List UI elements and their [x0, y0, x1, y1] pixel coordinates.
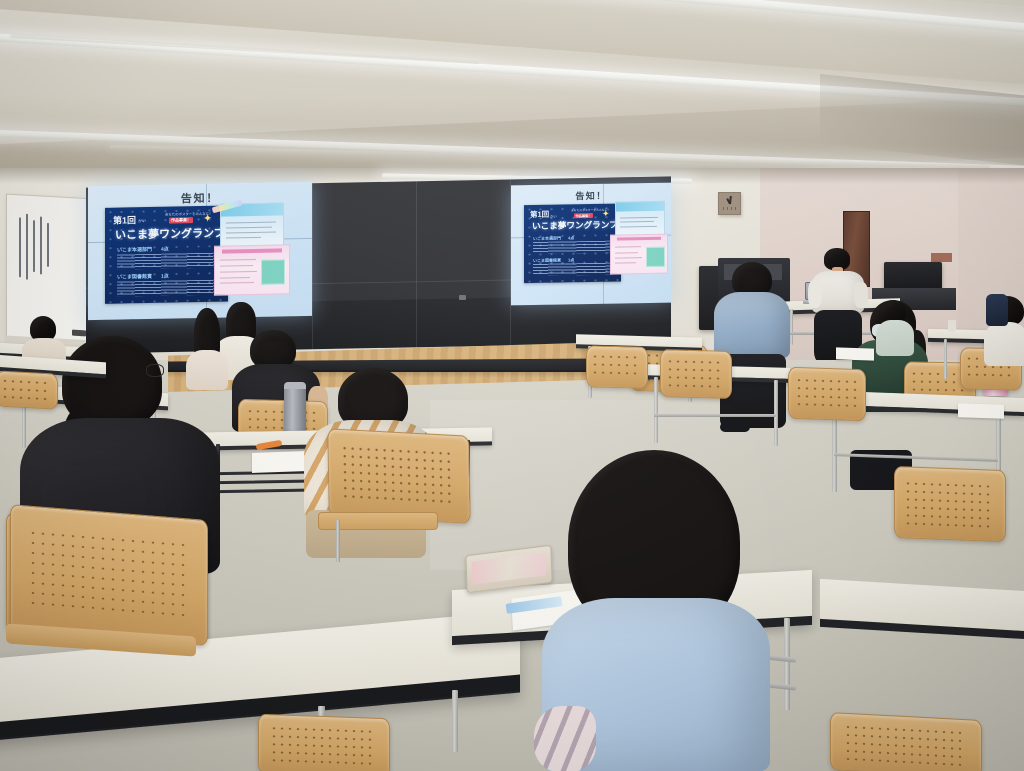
- panel-sensor-right: [459, 295, 466, 300]
- pink-flyer-header-right: [617, 237, 662, 241]
- chair-left-back[interactable]: [0, 370, 56, 407]
- table-row2-left-leg: [22, 402, 26, 448]
- slide-poster-left: 第1回 かい あなたのポスターをみんなに！ 作品募集！ ✦ いこま夢ワングランプ…: [105, 205, 228, 303]
- student-lightblue-sleeve: [534, 706, 596, 771]
- projection-screen-left: 告知！ 第1回 かい あなたのポスターをみんなに！ 作品募集！ ✦ いこま夢ワン…: [88, 182, 312, 320]
- presenter-table-leg-left: [790, 309, 793, 345]
- blue-backpack[interactable]: [986, 294, 1008, 326]
- cup-right[interactable]: [948, 320, 956, 332]
- poster-edition-sub: かい: [138, 218, 146, 224]
- qr-code-placeholder-right: [646, 247, 665, 267]
- poster-section-1-text: [117, 253, 217, 270]
- grey-tumbler-midleft-cap: [284, 382, 306, 389]
- chair-striped-leg: [336, 520, 340, 562]
- classroom-photo: 告知！ 第1回 かい あなたのポスターをみんなに！ 作品募集！ ✦ いこま夢ワン…: [0, 0, 1024, 771]
- paper-right-desk-2[interactable]: [958, 403, 1004, 419]
- clock-minute-hand: [729, 196, 731, 204]
- poster-badge-right: 作品募集！: [574, 213, 593, 218]
- chair-lightblue-girl[interactable]: [830, 712, 980, 771]
- blue-flyer-thumbnail: [220, 202, 284, 247]
- paper-right-desk[interactable]: [836, 347, 874, 360]
- blue-flyer-thumbnail-right: [615, 201, 665, 237]
- table-right-mid-leg-1: [654, 377, 658, 443]
- poster-title: いこま夢ワングランプリ: [115, 224, 228, 242]
- far-right-2-torso: [876, 320, 914, 356]
- table-right-mid-stretcher: [654, 414, 776, 417]
- poster-section-2-text-right: [533, 263, 613, 276]
- paper-handout-center[interactable]: [252, 451, 308, 473]
- table-right-mid-leg-2: [774, 380, 778, 446]
- chair-mid-1[interactable]: [586, 345, 646, 386]
- poster-edition-sub-right: かい: [550, 214, 557, 219]
- poster-title-right: いこま夢ワングランプリ: [532, 218, 621, 232]
- chair-right-2[interactable]: [788, 367, 864, 419]
- pencil-case-window: [472, 553, 547, 584]
- whiteboard-eraser: [72, 330, 86, 337]
- pink-flyer-thumbnail-right: [610, 234, 668, 275]
- poster-section-2-text: [117, 280, 217, 297]
- poster-section-1-label: いこま本選部門: [117, 246, 152, 254]
- poster-section-1-text-right: [533, 241, 613, 254]
- student-longhair-left-torso: [186, 350, 228, 390]
- far-right-1-torso: [984, 322, 1024, 366]
- table-foreground-left-leg-2: [452, 690, 458, 752]
- pink-flyer-header: [222, 248, 281, 253]
- chair-foreground-bottom[interactable]: [258, 714, 388, 771]
- poster-edition-label-right: 第1回: [530, 209, 549, 220]
- pink-flyer-thumbnail: [214, 244, 290, 295]
- table-right-far-leg: [944, 339, 947, 379]
- poster-section-2-prize: 1点: [161, 273, 169, 280]
- qr-code-placeholder: [261, 260, 285, 285]
- poster-edition-label: 第1回: [113, 213, 136, 226]
- poster-star-icon-right: ✦: [602, 210, 610, 219]
- wall-clock: [718, 192, 741, 215]
- poster-section-1-prize: 4点: [161, 246, 169, 253]
- poster-star-icon: ✦: [203, 214, 212, 225]
- chair-foreground-left-large[interactable]: [10, 504, 206, 644]
- poster-badge: 作品募集！: [169, 217, 193, 223]
- glasses: [146, 364, 164, 377]
- presenter-arm-right: [854, 282, 868, 308]
- clock-face-marks: [723, 207, 736, 210]
- slide-poster-right: 第1回 かい あなたのポスターをみんなに！ 作品募集！ ✦ いこま夢ワングランプ…: [524, 203, 621, 283]
- projection-screen-right: 告知！ 第1回 かい あなたのポスターをみんなに！ 作品募集！ ✦ いこま夢ワン…: [511, 183, 671, 306]
- table-front-center-leg-right: [784, 618, 790, 710]
- poster-section-2-label: いこま図書館賞: [117, 273, 152, 281]
- chair-striped-boy[interactable]: [327, 428, 468, 521]
- chair-right-1[interactable]: [660, 349, 730, 397]
- blue-flyer-header-right: [616, 202, 664, 212]
- attendee-blue-shirt-torso: [714, 292, 790, 358]
- chair-right-3[interactable]: [894, 466, 1004, 540]
- wall-sign: [931, 253, 952, 262]
- table-right-lower-leg-1: [832, 410, 837, 492]
- presenter-arm-left: [808, 280, 822, 308]
- attendee-blue-shirt-shoe: [720, 422, 750, 432]
